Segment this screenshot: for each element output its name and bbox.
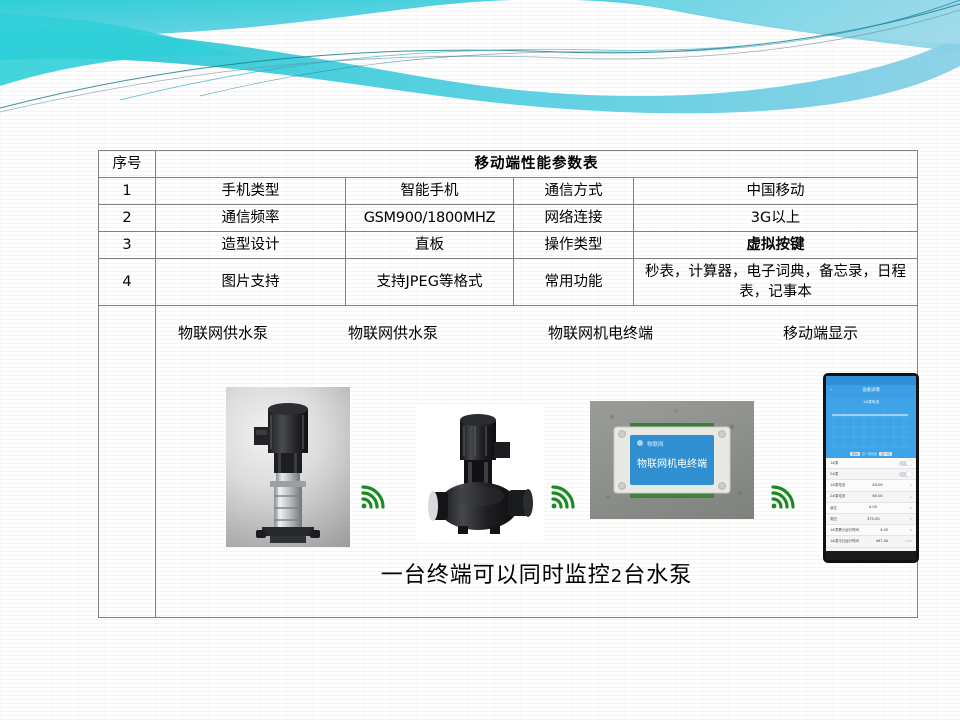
chart-range-button[interactable]: 近一月	[879, 452, 892, 456]
list-item-unit: H	[910, 528, 912, 532]
caption-text-before: 一台终端可以同时监控	[381, 563, 611, 588]
row-value-2: 虚拟按键	[634, 232, 918, 259]
gallery-cell: 物联网供水泵 物联网供水泵 物联网机电终端 移动端显示	[156, 306, 918, 618]
list-item[interactable]: 2#泵	[826, 469, 916, 480]
chart-range-button[interactable]: 近一周历史	[862, 452, 877, 456]
row-value-2: 秒表，计算器，电子词典，备忘录，日程表，记事本	[634, 259, 918, 306]
list-item-label: 液位	[830, 506, 837, 511]
row-index: 4	[99, 259, 156, 306]
row-key-2: 操作类型	[514, 232, 634, 259]
table-row: 2 通信频率 GSM900/1800MHZ 网络连接 3G以上	[99, 205, 918, 232]
row-key-1: 通信频率	[156, 205, 346, 232]
list-item-unit: 0.01	[905, 539, 912, 543]
photo-iot-terminal: 物联网 物联网机电终端	[590, 401, 754, 519]
list-item-label: 1#泵今日运行时间	[830, 539, 859, 544]
summary-caption: 一台终端可以同时监控2台水泵	[158, 561, 915, 591]
wave-graphic	[0, 0, 960, 118]
pump-toggle[interactable]	[899, 472, 912, 477]
list-item-label: 电压	[830, 517, 837, 522]
gallery-label-pump-2: 物联网供水泵	[348, 323, 438, 344]
wifi-signal-icon	[548, 481, 582, 511]
list-item-label: 1#泵累计运行时间	[830, 528, 859, 533]
row-value-1: 智能手机	[346, 178, 514, 205]
row-value-1: GSM900/1800MHZ	[346, 205, 514, 232]
phone-nav-bar: ‹ 设备详情	[826, 385, 916, 398]
photo-mobile-phone: ‹ 设备详情 1#泵电流	[823, 373, 919, 563]
list-item-value: 63.00	[872, 483, 882, 488]
list-item: 2#泵电流 60.00 A	[826, 492, 916, 503]
chart-range-button[interactable]: 实时	[850, 452, 860, 456]
pump-toggle[interactable]	[899, 461, 912, 466]
row-key-1: 图片支持	[156, 259, 346, 306]
caption-text-after: 台水泵	[623, 563, 692, 588]
iot-terminal-graphic: 物联网 物联网机电终端	[590, 401, 754, 519]
row-index: 3	[99, 232, 156, 259]
row-value-1: 直板	[346, 232, 514, 259]
row-key-1: 造型设计	[156, 232, 346, 259]
gallery-label-pump-1: 物联网供水泵	[178, 323, 268, 344]
row-index: 1	[99, 178, 156, 205]
photo-inline-pump	[416, 404, 544, 542]
list-item-value: 0.00	[869, 505, 877, 510]
row-value-1: 支持JPEG等格式	[346, 259, 514, 306]
list-item-label: 2#泵电流	[830, 494, 845, 499]
vertical-pump-graphic	[226, 387, 350, 547]
device-gallery: 物联网供水泵 物联网供水泵 物联网机电终端 移动端显示	[158, 309, 915, 614]
gallery-row: 物联网供水泵 物联网供水泵 物联网机电终端 移动端显示	[99, 306, 918, 618]
list-item-value: 60.00	[872, 494, 882, 499]
list-item-value: 4.00	[880, 528, 888, 533]
wifi-signal-icon	[768, 481, 802, 511]
list-item: 液位 0.00 m	[826, 503, 916, 514]
photo-vertical-pump	[226, 387, 350, 547]
list-item-value: 375.00	[867, 517, 880, 522]
caption-number: 2	[611, 566, 623, 587]
gallery-label-terminal: 物联网机电终端	[548, 323, 653, 344]
header-wave-banner	[0, 0, 960, 118]
phone-chart-buttons[interactable]: 实时 近一周历史 近一月	[826, 452, 916, 456]
phone-soft-keys[interactable]	[826, 551, 916, 560]
row-index: 2	[99, 205, 156, 232]
row-value-2: 中国移动	[634, 178, 918, 205]
phone-chart-title: 1#泵电流	[826, 400, 916, 405]
mobile-parameter-table: 序号 移动端性能参数表 1 手机类型 智能手机 通信方式 中国移动 2 通信频率…	[98, 150, 918, 618]
list-item: 电压 375.00 V	[826, 514, 916, 525]
list-item-unit: V	[910, 517, 912, 521]
list-item-unit: A	[910, 495, 912, 499]
list-item-label: 1#泵	[830, 461, 838, 466]
list-item: 1#泵电流 63.00 A	[826, 480, 916, 491]
gallery-label-mobile: 移动端显示	[783, 323, 858, 344]
list-item[interactable]: 1#泵	[826, 458, 916, 469]
list-item: 1#泵今日运行时间 497.00 0.01	[826, 536, 916, 547]
table-title-cell: 移动端性能参数表	[156, 151, 918, 178]
row-key-2: 网络连接	[514, 205, 634, 232]
phone-data-list: 1#泵 2#泵 1#泵电流 63.00 A	[826, 458, 916, 551]
list-item-label: 2#泵	[830, 472, 838, 477]
list-item: 1#泵累计运行时间 4.00 H	[826, 525, 916, 536]
table-row: 3 造型设计 直板 操作类型 虚拟按键	[99, 232, 918, 259]
list-item-unit: m	[909, 506, 912, 510]
svg-text:物联网机电终端: 物联网机电终端	[637, 457, 707, 470]
phone-nav-title: 设备详情	[826, 388, 916, 394]
table-row: 4 图片支持 支持JPEG等格式 常用功能 秒表，计算器，电子词典，备忘录，日程…	[99, 259, 918, 306]
row-value-2: 3G以上	[634, 205, 918, 232]
list-item-value: 497.00	[876, 539, 889, 544]
header-no-cell: 序号	[99, 151, 156, 178]
row-key-2: 常用功能	[514, 259, 634, 306]
phone-chart-panel: 1#泵电流	[826, 398, 916, 458]
row-key-1: 手机类型	[156, 178, 346, 205]
gallery-index-cell	[99, 306, 156, 618]
list-item-unit: A	[910, 483, 912, 487]
table-row: 1 手机类型 智能手机 通信方式 中国移动	[99, 178, 918, 205]
inline-pump-graphic	[416, 404, 544, 542]
phone-status-bar	[826, 376, 916, 385]
row-key-2: 通信方式	[514, 178, 634, 205]
list-item-label: 1#泵电流	[830, 483, 845, 488]
svg-text:物联网: 物联网	[647, 440, 664, 448]
phone-line-chart	[826, 407, 916, 455]
wifi-signal-icon	[358, 481, 392, 511]
table-header-row: 序号 移动端性能参数表	[99, 151, 918, 178]
